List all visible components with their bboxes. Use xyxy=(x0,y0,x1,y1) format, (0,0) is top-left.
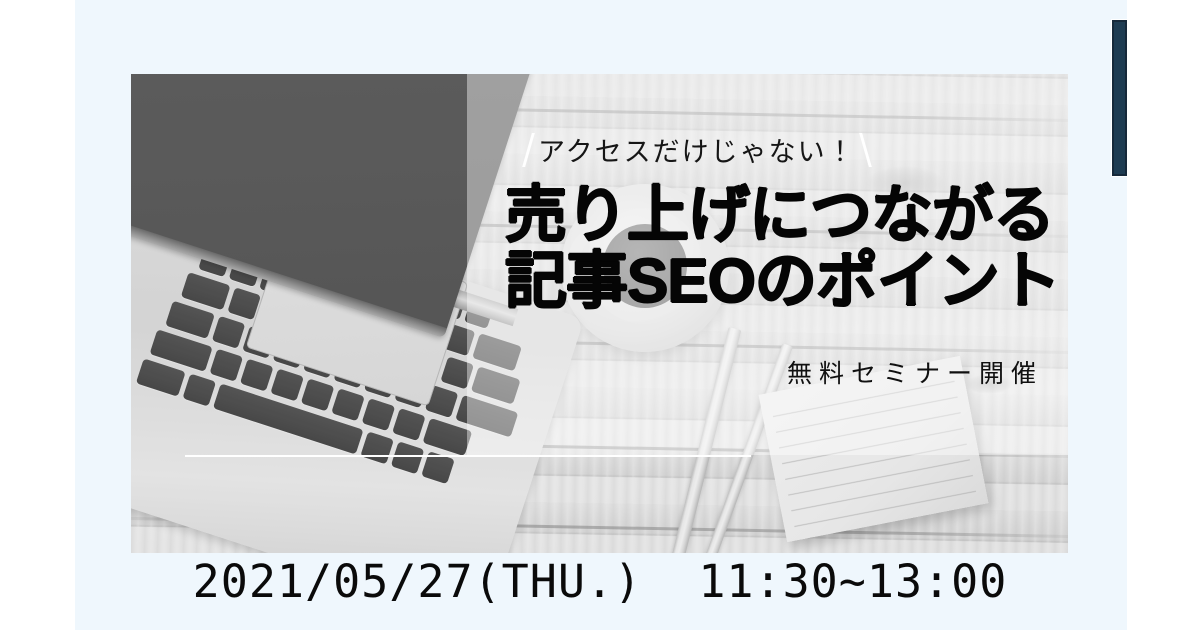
date-time-label: 2021/05/27(THU.) 11:30~13:00 xyxy=(0,555,1200,608)
accent-bar xyxy=(1112,20,1127,176)
divider-rule xyxy=(185,455,751,457)
subtitle: 無料セミナー開催 xyxy=(505,354,1065,390)
tagline-text: アクセスだけじゃない！ xyxy=(538,130,856,169)
headline-block: アクセスだけじゃない！ 売り上げにつながる 記事SEOのポイント 無料セミナー開… xyxy=(505,130,1065,390)
seminar-banner: アクセスだけじゃない！ 売り上げにつながる 記事SEOのポイント 無料セミナー開… xyxy=(0,0,1200,630)
headline-line-1: 売り上げにつながる xyxy=(505,181,1054,250)
tagline-row: アクセスだけじゃない！ xyxy=(527,130,1065,169)
slash-right-icon xyxy=(859,133,872,167)
slash-left-icon xyxy=(522,133,535,167)
headline-line-2: 記事SEOのポイント xyxy=(505,249,1065,315)
page-title: 売り上げにつながる 記事SEOのポイント xyxy=(505,183,1065,316)
